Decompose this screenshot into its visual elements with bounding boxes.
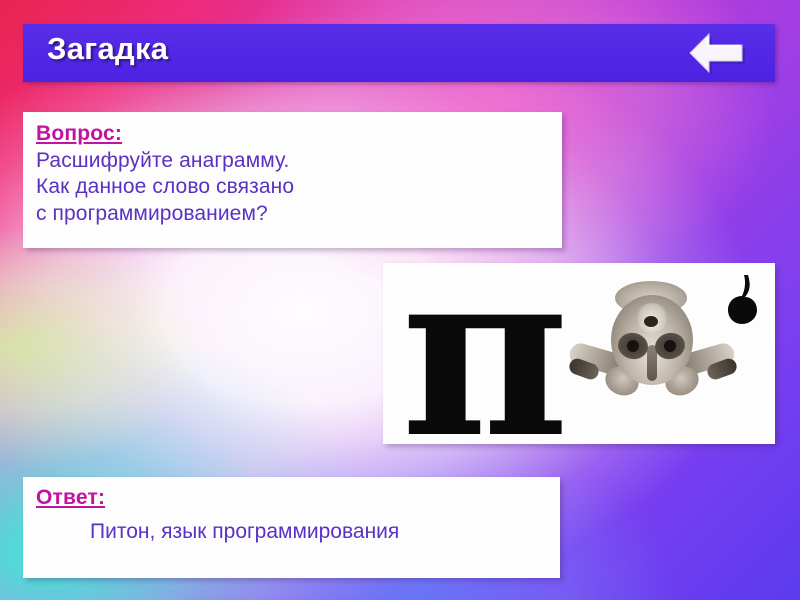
tadpole-glyph-icon xyxy=(725,273,759,325)
question-line-1: Расшифруйте анаграмму. xyxy=(36,148,562,175)
question-panel: Вопрос: Расшифруйте анаграмму. Как данно… xyxy=(23,112,562,248)
question-line-2: Как данное слово связано xyxy=(36,174,562,201)
title-bar: Загадка xyxy=(23,24,775,82)
pi-symbol-glyph: π xyxy=(401,263,569,444)
answer-text: Питон, язык программирования xyxy=(90,520,560,544)
quiz-slide: Загадка Вопрос: Расшифруйте анаграмму. К… xyxy=(0,0,800,600)
question-heading: Вопрос: xyxy=(36,122,562,147)
answer-heading: Ответ: xyxy=(36,486,560,511)
question-line-3: с программированием? xyxy=(36,201,562,228)
page-title: Загадка xyxy=(47,31,168,67)
answer-panel: Ответ: Питон, язык программирования xyxy=(23,477,560,578)
upside-down-raccoon-photo xyxy=(569,287,737,407)
back-arrow-icon[interactable] xyxy=(687,30,747,76)
rebus-image-panel: π xyxy=(383,263,775,444)
